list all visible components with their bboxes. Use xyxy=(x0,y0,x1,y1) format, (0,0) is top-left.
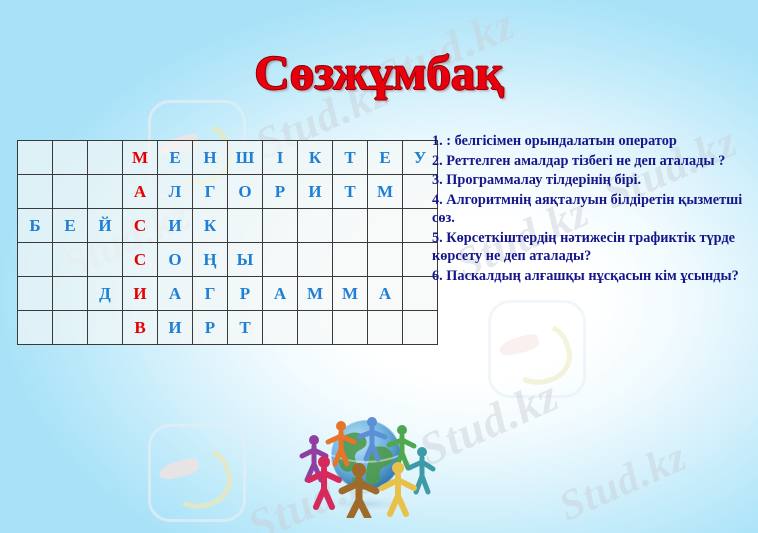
crossword-cell[interactable] xyxy=(333,209,368,243)
crossword-cell[interactable]: Д xyxy=(88,277,123,311)
crossword-row: БЕЙСИК xyxy=(18,209,438,243)
crossword-cell[interactable]: А xyxy=(123,175,158,209)
crossword-cell[interactable]: И xyxy=(123,277,158,311)
crossword-cell[interactable]: Е xyxy=(53,209,88,243)
crossword-cell[interactable]: Ы xyxy=(228,243,263,277)
crossword-cell[interactable] xyxy=(263,209,298,243)
question-item: 4. Алгоритмнің аяқталуын білдіретін қызм… xyxy=(432,191,750,228)
question-item: 5. Көрсеткіштердің нәтижесін графиктік т… xyxy=(432,229,750,266)
crossword-grid[interactable]: МЕНШІКТЕУАЛГОРИТМБЕЙСИКСОҢЫДИАГРАММАВИРТ xyxy=(17,140,438,345)
crossword-cell[interactable] xyxy=(53,311,88,345)
crossword-cell[interactable]: Г xyxy=(193,175,228,209)
crossword-cell[interactable]: И xyxy=(158,311,193,345)
crossword-cell[interactable]: С xyxy=(123,209,158,243)
crossword-cell[interactable] xyxy=(298,243,333,277)
questions-list: 1. : белгісімен орындалатын оператор2. Р… xyxy=(432,132,750,287)
crossword-cell[interactable] xyxy=(53,243,88,277)
page-title: Сөзжұмбақ xyxy=(0,44,758,101)
crossword-cell[interactable]: Р xyxy=(263,175,298,209)
crossword-cell[interactable]: О xyxy=(158,243,193,277)
crossword-cell[interactable] xyxy=(18,277,53,311)
crossword-cell[interactable] xyxy=(18,243,53,277)
question-item: 6. Паскалдың алғашқы нұсқасын кім ұсынды… xyxy=(432,267,750,286)
question-item: 3. Программалау тілдерінің бірі. xyxy=(432,171,750,190)
crossword-row: ДИАГРАММА xyxy=(18,277,438,311)
bird-logo-watermark xyxy=(488,300,586,398)
crossword-cell[interactable]: О xyxy=(228,175,263,209)
crossword-cell[interactable] xyxy=(333,243,368,277)
crossword-cell[interactable] xyxy=(18,141,53,175)
crossword-cell[interactable]: Т xyxy=(333,175,368,209)
question-item: 1. : белгісімен орындалатын оператор xyxy=(432,132,750,151)
crossword-cell[interactable] xyxy=(368,243,403,277)
crossword-cell[interactable]: В xyxy=(123,311,158,345)
crossword-cell[interactable]: Г xyxy=(193,277,228,311)
question-item: 2. Реттелген амалдар тізбегі не деп атал… xyxy=(432,152,750,171)
crossword-cell[interactable]: Р xyxy=(193,311,228,345)
crossword-cell[interactable] xyxy=(298,209,333,243)
crossword-cell[interactable] xyxy=(88,141,123,175)
crossword-cell[interactable]: Ш xyxy=(228,141,263,175)
crossword-cell[interactable] xyxy=(403,311,438,345)
crossword-cell[interactable]: М xyxy=(333,277,368,311)
crossword-cell[interactable]: Л xyxy=(158,175,193,209)
crossword-cell[interactable]: Т xyxy=(228,311,263,345)
crossword-cell[interactable] xyxy=(18,175,53,209)
crossword-cell[interactable]: А xyxy=(263,277,298,311)
crossword-cell[interactable] xyxy=(333,311,368,345)
globe-with-people-holding-hands-image xyxy=(286,400,446,518)
crossword-cell[interactable]: М xyxy=(298,277,333,311)
crossword-table[interactable]: МЕНШІКТЕУАЛГОРИТМБЕЙСИКСОҢЫДИАГРАММАВИРТ xyxy=(17,140,438,345)
crossword-cell[interactable] xyxy=(88,243,123,277)
watermark-text: Stud.kz xyxy=(552,433,694,531)
crossword-row: ВИРТ xyxy=(18,311,438,345)
crossword-cell[interactable]: М xyxy=(368,175,403,209)
crossword-cell[interactable] xyxy=(263,243,298,277)
clipart-svg xyxy=(286,400,446,518)
crossword-cell[interactable] xyxy=(298,311,333,345)
crossword-cell[interactable]: К xyxy=(193,209,228,243)
crossword-cell[interactable]: Т xyxy=(333,141,368,175)
crossword-cell[interactable] xyxy=(18,311,53,345)
crossword-cell[interactable]: Б xyxy=(18,209,53,243)
crossword-cell[interactable] xyxy=(53,277,88,311)
crossword-cell[interactable] xyxy=(263,311,298,345)
crossword-cell[interactable]: А xyxy=(368,277,403,311)
crossword-cell[interactable] xyxy=(53,141,88,175)
crossword-cell[interactable]: А xyxy=(158,277,193,311)
crossword-row: СОҢЫ xyxy=(18,243,438,277)
crossword-cell[interactable]: Е xyxy=(368,141,403,175)
crossword-cell[interactable]: Н xyxy=(193,141,228,175)
crossword-cell[interactable]: И xyxy=(158,209,193,243)
crossword-cell[interactable] xyxy=(88,175,123,209)
crossword-cell[interactable] xyxy=(88,311,123,345)
crossword-cell[interactable]: М xyxy=(123,141,158,175)
crossword-cell[interactable]: Й xyxy=(88,209,123,243)
crossword-cell[interactable] xyxy=(53,175,88,209)
crossword-cell[interactable]: К xyxy=(298,141,333,175)
crossword-cell[interactable]: И xyxy=(298,175,333,209)
crossword-row: МЕНШІКТЕУ xyxy=(18,141,438,175)
crossword-cell[interactable] xyxy=(368,209,403,243)
bird-logo-watermark xyxy=(148,424,246,522)
crossword-row: АЛГОРИТМ xyxy=(18,175,438,209)
crossword-cell[interactable]: Р xyxy=(228,277,263,311)
slide-canvas: Stud.kz Stud.kz Stud.kz Stud.kz Stud.kz … xyxy=(0,0,758,533)
crossword-cell[interactable] xyxy=(368,311,403,345)
crossword-cell[interactable]: С xyxy=(123,243,158,277)
crossword-cell[interactable]: Ң xyxy=(193,243,228,277)
crossword-cell[interactable] xyxy=(228,209,263,243)
crossword-cell[interactable]: І xyxy=(263,141,298,175)
crossword-cell[interactable]: Е xyxy=(158,141,193,175)
